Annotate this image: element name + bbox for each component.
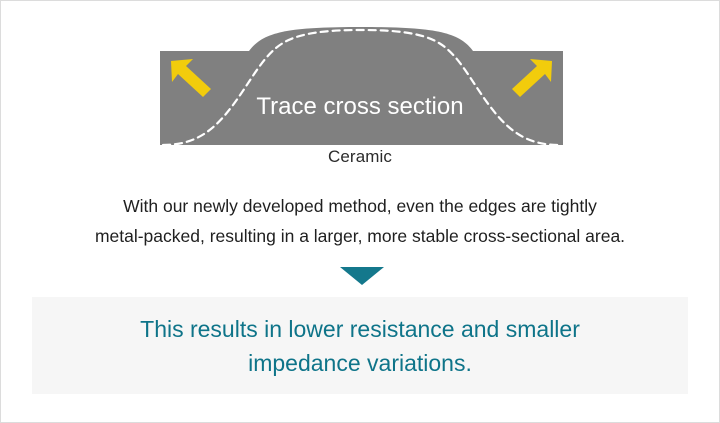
conclusion-text: This results in lower resistance and sma… [140,312,580,380]
description-text: With our newly developed method, even th… [1,191,719,251]
conclusion-line-2: impedance variations. [140,346,580,380]
description-line-1: With our newly developed method, even th… [1,191,719,221]
substrate-shape [160,27,563,145]
ceramic-label: Ceramic [1,147,719,167]
conclusion-line-1: This results in lower resistance and sma… [140,312,580,346]
conclusion-panel: This results in lower resistance and sma… [32,297,688,394]
trace-cross-section-label: Trace cross section [1,93,719,121]
down-arrow-icon [340,267,384,285]
description-line-2: metal-packed, resulting in a larger, mor… [1,221,719,251]
diagram-page: Trace cross section Ceramic With our new… [0,0,720,423]
